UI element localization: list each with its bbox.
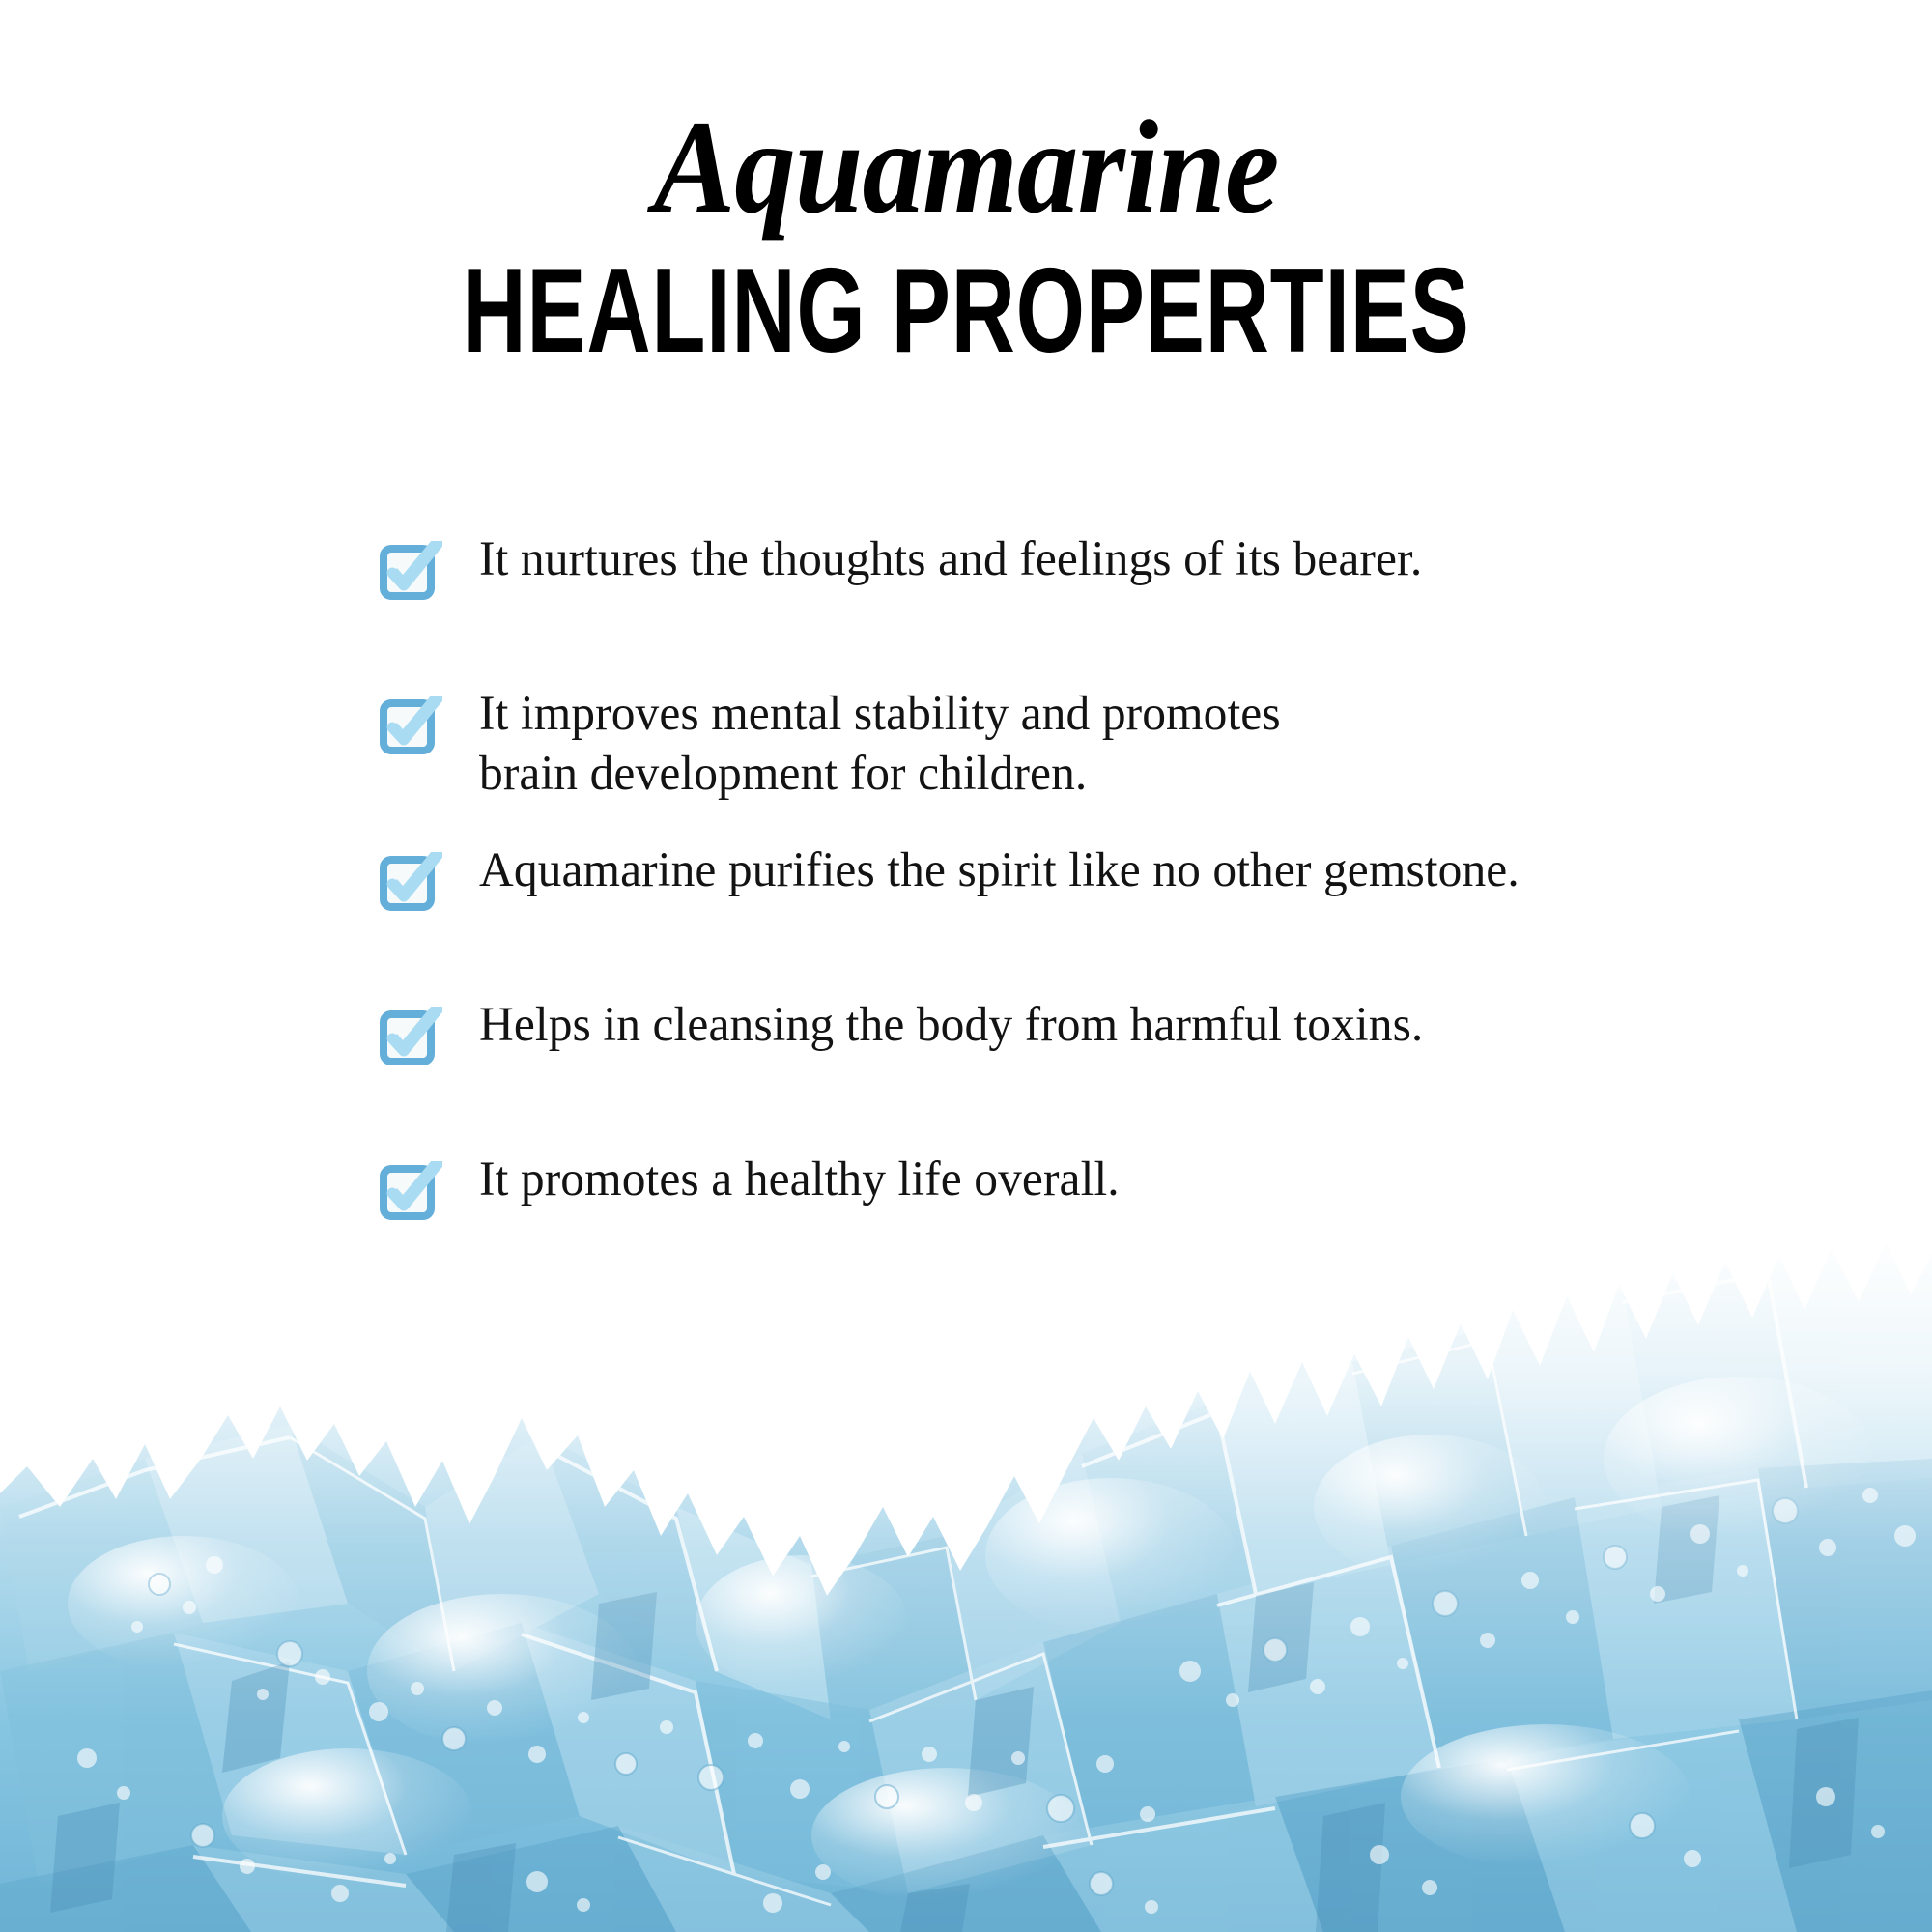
list-item-label: Helps in cleansing the body from harmful… [479, 995, 1843, 1055]
checked-checkbox-icon [379, 696, 442, 755]
list-item: Aquamarine purifies the spirit like no o… [379, 840, 1886, 912]
list-item: Helps in cleansing the body from harmful… [379, 995, 1886, 1066]
checked-checkbox-icon [379, 541, 442, 601]
page-title: Aquamarine [77, 0, 1855, 234]
checked-checkbox-icon [379, 1007, 442, 1066]
list-item-label: Aquamarine purifies the spirit like no o… [479, 840, 1843, 900]
healing-properties-list: It nurtures the thoughts and feelings of… [379, 529, 1886, 1221]
checked-checkbox-icon [379, 852, 442, 912]
list-item: It promotes a healthy life overall. [379, 1150, 1886, 1221]
checked-checkbox-icon [379, 1161, 442, 1221]
list-item-label: It promotes a healthy life overall. [479, 1150, 1843, 1209]
list-item: It nurtures the thoughts and feelings of… [379, 529, 1886, 601]
poster-canvas: Aquamarine HEALING PROPERTIES It nurture… [0, 0, 1932, 1932]
list-item: It improves mental stability and promote… [379, 684, 1886, 804]
page-subtitle: HEALING PROPERTIES [251, 234, 1681, 371]
list-item-label: It nurtures the thoughts and feelings of… [479, 529, 1843, 589]
ice-cubes-photo [0, 1217, 1932, 1932]
list-item-label: It improves mental stability and promote… [479, 684, 1843, 804]
header-block: Aquamarine HEALING PROPERTIES [0, 0, 1932, 371]
